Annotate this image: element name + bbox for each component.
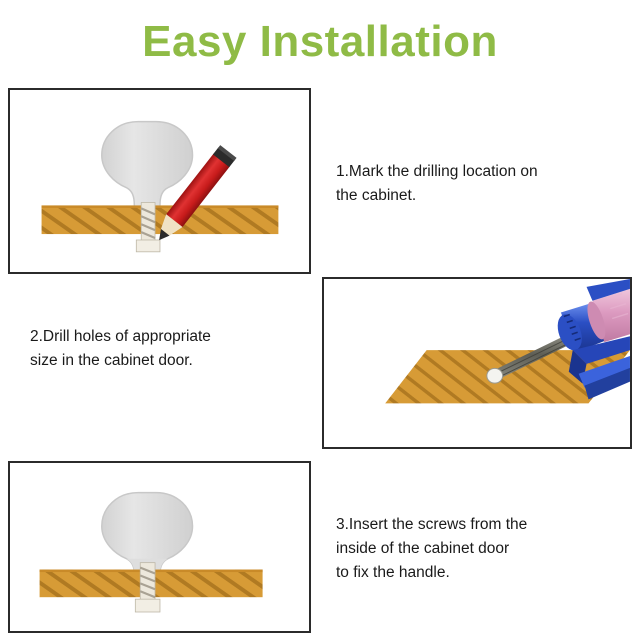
- step-2-text: 2.Drill holes of appropriate size in the…: [30, 325, 300, 373]
- step-3-text: 3.Insert the screws from the inside of t…: [336, 513, 616, 585]
- cabinet-knob-handle: [102, 493, 193, 574]
- wooden-board: [42, 205, 279, 234]
- insert-screws-illustration: [10, 463, 309, 633]
- drilling-hole-illustration: [324, 279, 630, 449]
- page-title: Easy Installation: [0, 18, 640, 66]
- step-2-illustration-panel: [322, 277, 632, 449]
- step-1-illustration-panel: [8, 88, 311, 274]
- step-3-illustration-panel: [8, 461, 311, 633]
- mark-drilling-location-illustration: [10, 90, 309, 274]
- step-1-text: 1.Mark the drilling location on the cabi…: [336, 160, 616, 208]
